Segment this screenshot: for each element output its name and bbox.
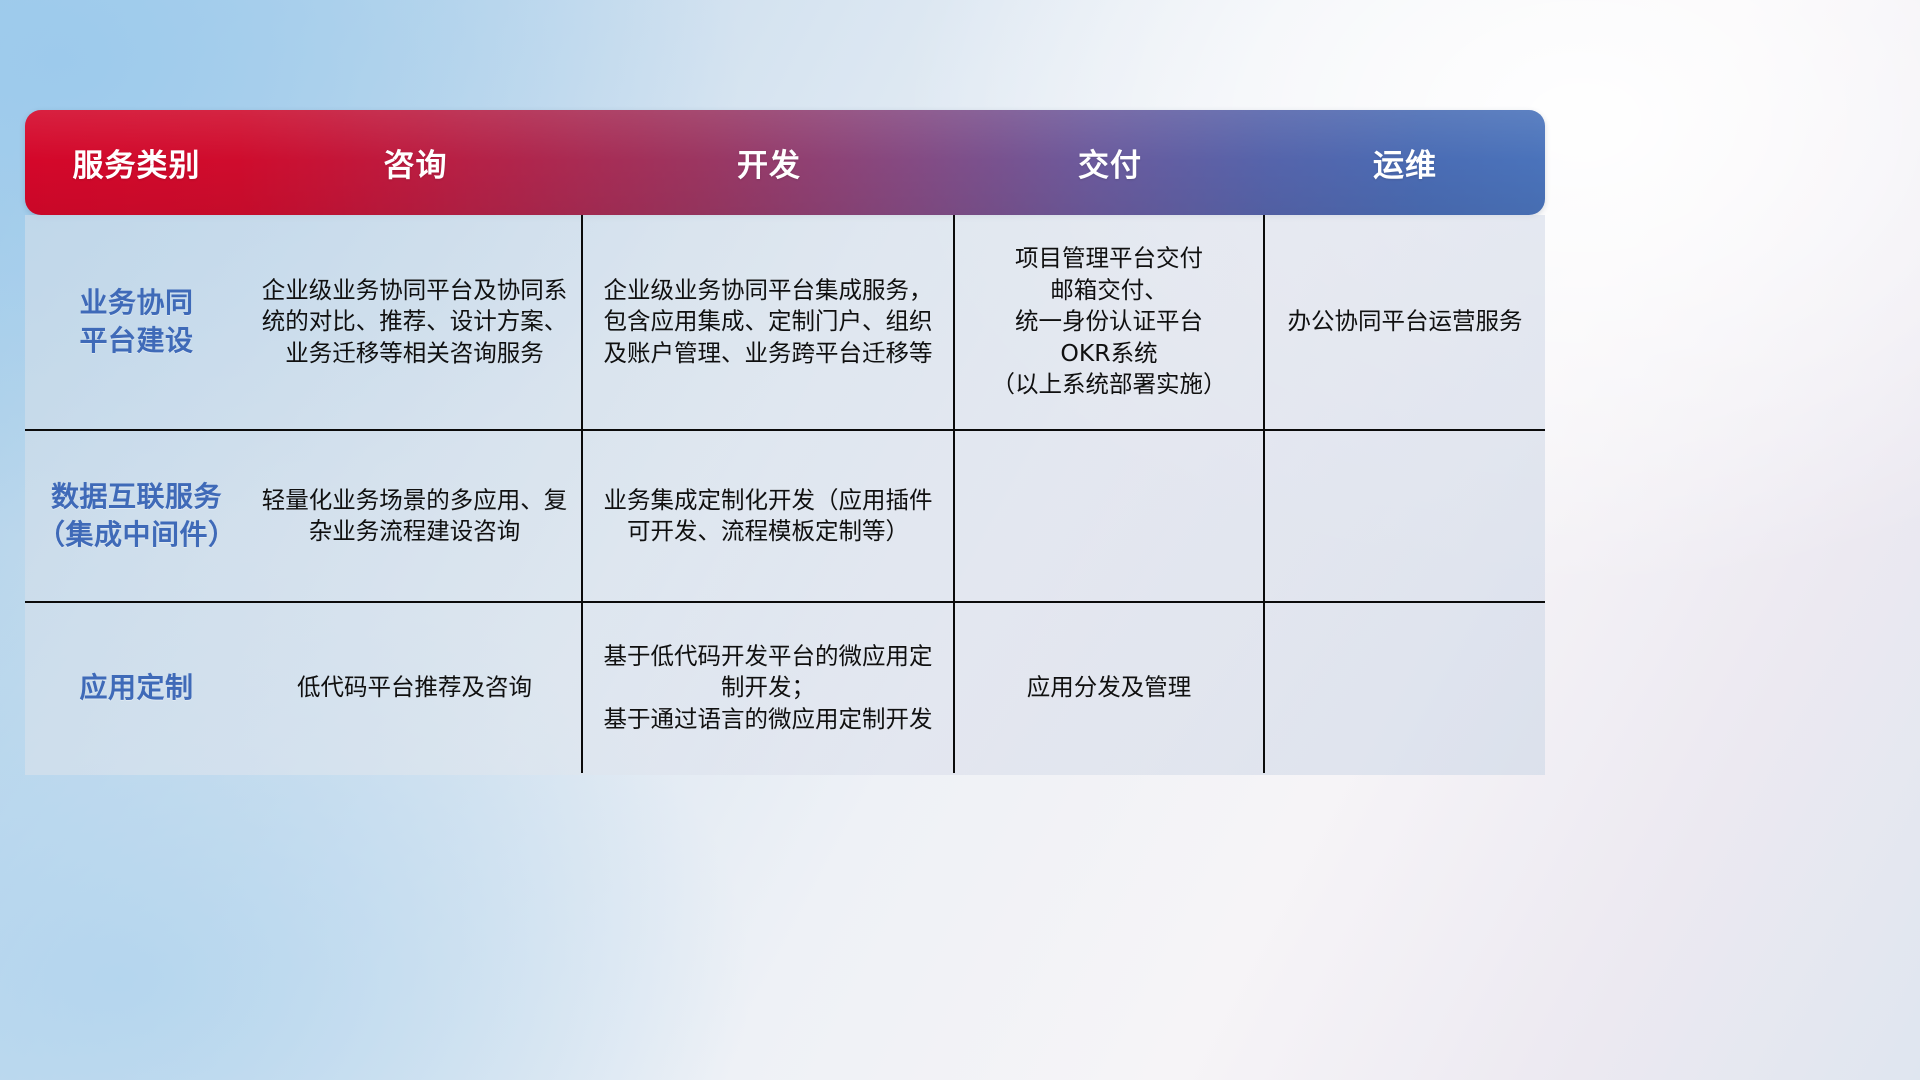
cell-delivery-collab-platform: 项目管理平台交付 邮箱交付、 统一身份认证平台 OKR系统 （以上系统部署实施） bbox=[955, 215, 1265, 429]
slide-canvas: 服务类别 咨询 开发 交付 运维 业务协同 平台建设 企业级业务协同平台及协同系… bbox=[0, 0, 1920, 1080]
service-matrix-table: 服务类别 咨询 开发 交付 运维 业务协同 平台建设 企业级业务协同平台及协同系… bbox=[25, 110, 1545, 775]
cell-operations-collab-platform: 办公协同平台运营服务 bbox=[1265, 215, 1545, 429]
row-label-app-customization: 应用定制 bbox=[25, 603, 248, 773]
table-row: 业务协同 平台建设 企业级业务协同平台及协同系 统的对比、推荐、设计方案、 业务… bbox=[25, 215, 1545, 429]
cell-development-app-customization: 基于低代码开发平台的微应用定 制开发； 基于通过语言的微应用定制开发 bbox=[583, 603, 955, 773]
cell-consulting-data-interconnect: 轻量化业务场景的多应用、复 杂业务流程建设咨询 bbox=[248, 431, 583, 601]
cell-delivery-app-customization: 应用分发及管理 bbox=[955, 603, 1265, 773]
header-cell-operations: 运维 bbox=[1265, 140, 1545, 185]
table-body: 业务协同 平台建设 企业级业务协同平台及协同系 统的对比、推荐、设计方案、 业务… bbox=[25, 215, 1545, 775]
header-cell-delivery: 交付 bbox=[955, 140, 1265, 185]
header-cell-consulting: 咨询 bbox=[248, 140, 583, 185]
cell-consulting-collab-platform: 企业级业务协同平台及协同系 统的对比、推荐、设计方案、 业务迁移等相关咨询服务 bbox=[248, 215, 583, 429]
table-header-row: 服务类别 咨询 开发 交付 运维 bbox=[25, 110, 1545, 215]
cell-development-collab-platform: 企业级业务协同平台集成服务， 包含应用集成、定制门户、组织 及账户管理、业务跨平… bbox=[583, 215, 955, 429]
row-label-collab-platform: 业务协同 平台建设 bbox=[25, 215, 248, 429]
header-cell-service-category: 服务类别 bbox=[25, 140, 248, 185]
table-row: 应用定制 低代码平台推荐及咨询 基于低代码开发平台的微应用定 制开发； 基于通过… bbox=[25, 601, 1545, 773]
row-label-data-interconnect: 数据互联服务 （集成中间件） bbox=[25, 431, 248, 601]
cell-development-data-interconnect: 业务集成定制化开发（应用插件 可开发、流程模板定制等） bbox=[583, 431, 955, 601]
cell-consulting-app-customization: 低代码平台推荐及咨询 bbox=[248, 603, 583, 773]
table-row: 数据互联服务 （集成中间件） 轻量化业务场景的多应用、复 杂业务流程建设咨询 业… bbox=[25, 429, 1545, 601]
cell-delivery-data-interconnect bbox=[955, 431, 1265, 601]
cell-operations-data-interconnect bbox=[1265, 431, 1545, 601]
header-cell-development: 开发 bbox=[583, 140, 955, 185]
cell-operations-app-customization bbox=[1265, 603, 1545, 773]
